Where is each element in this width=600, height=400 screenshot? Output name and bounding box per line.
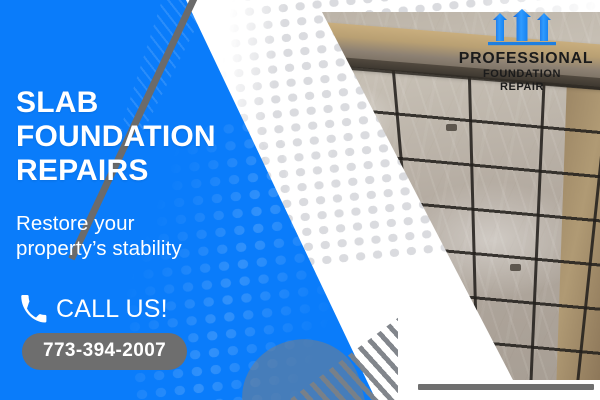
call-to-action-block[interactable]: CALL US! 773-394-2007 [18,294,187,370]
phone-handset-icon [18,294,48,324]
three-buildings-arrow-icon [484,8,560,48]
bottom-gray-rule [418,384,594,390]
copy-block: SLAB FOUNDATION REPAIRS Restore your pro… [16,86,251,261]
headline-line-1: SLAB [16,86,98,119]
page-title: SLAB FOUNDATION REPAIRS [16,86,251,189]
logo-tagline: FOUNDATION REPAIR [460,68,584,94]
brand-logo[interactable]: PROFESSIONAL FOUNDATION REPAIR [460,8,584,94]
rebar-tie [406,322,417,329]
call-us-label: CALL US! [56,297,168,322]
logo-name: PROFESSIONAL [459,51,585,67]
rebar-vertical-bar [311,64,367,380]
subheadline: Restore your property’s stability [16,211,251,262]
advertisement-banner: PROFESSIONAL FOUNDATION REPAIR SLAB FOUN… [0,0,600,400]
rebar-tie [446,124,457,131]
headline-line-3: REPAIRS [16,154,149,187]
phone-number-button[interactable]: 773-394-2007 [22,333,187,370]
call-us-row[interactable]: CALL US! [18,294,187,324]
rebar-tie [360,192,371,199]
rebar-tie [510,264,521,271]
subheadline-line-2: property’s stability [16,237,182,260]
subheadline-line-1: Restore your [16,212,135,235]
headline-line-2: FOUNDATION [16,120,216,153]
